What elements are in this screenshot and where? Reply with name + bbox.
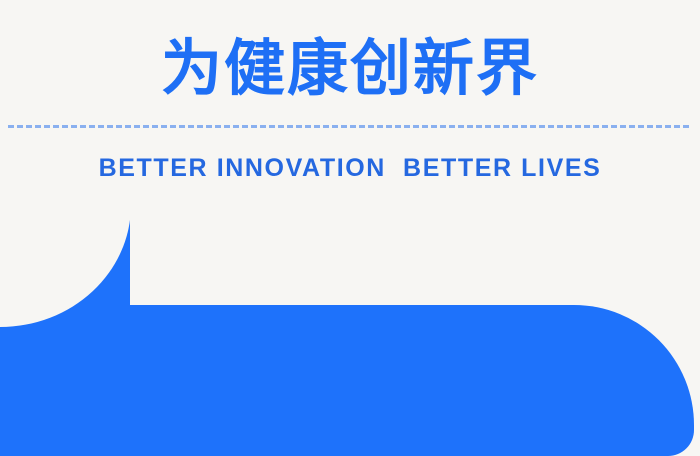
page-subtitle: BETTER INNOVATION BETTER LIVES: [0, 152, 700, 184]
blue-left-riser-shape: [0, 205, 130, 335]
blue-artwork: [0, 195, 700, 456]
page-title: 为健康创新界: [0, 32, 700, 106]
concave-corner-cutout: [0, 205, 131, 327]
dashed-divider: [8, 125, 689, 128]
poster-canvas: 为健康创新界 BETTER INNOVATION BETTER LIVES: [0, 0, 700, 456]
